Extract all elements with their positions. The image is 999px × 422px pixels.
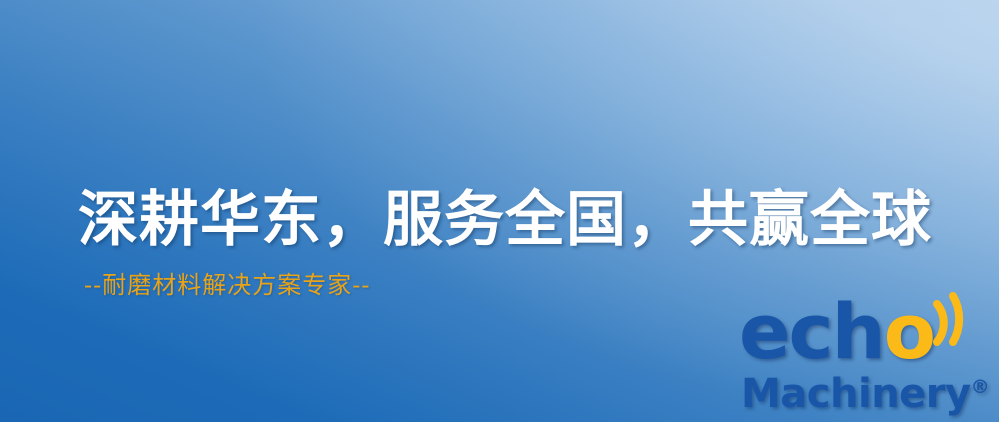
- promotional-banner: 深耕华东，服务全国，共赢全球 --耐磨材料解决方案专家-- echo Machi…: [0, 0, 999, 422]
- logo-text-echo: echo: [739, 294, 934, 370]
- logo-text-machinery: Machinery®: [741, 374, 990, 414]
- logo-echo-prefix: ech: [739, 287, 884, 376]
- logo-wordmark: echo: [733, 294, 991, 374]
- registered-trademark-icon: ®: [971, 376, 990, 398]
- banner-subtitle: --耐磨材料解决方案专家--: [84, 265, 370, 300]
- echo-wave-arcs-icon: [923, 292, 985, 348]
- banner-headline: 深耕华东，服务全国，共赢全球: [78, 188, 932, 253]
- company-logo: echo Machinery®: [733, 290, 991, 420]
- logo-machinery-word: Machinery: [741, 371, 971, 417]
